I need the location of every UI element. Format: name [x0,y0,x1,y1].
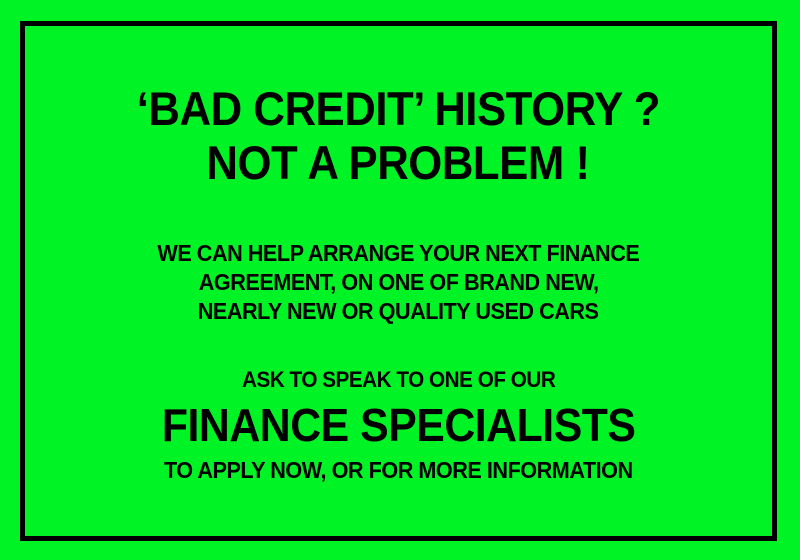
cta-lead-in: ASK TO SPEAK TO ONE OF OUR [242,366,555,393]
body-line-1: WE CAN HELP ARRANGE YOUR NEXT FINANCE [158,239,640,268]
headline-line-1: ‘BAD CREDIT’ HISTORY ? [137,82,660,136]
body-line-2: AGREEMENT, ON ONE OF BRAND NEW, [199,268,599,297]
poster: ‘BAD CREDIT’ HISTORY ? NOT A PROBLEM ! W… [0,0,800,560]
body-block: WE CAN HELP ARRANGE YOUR NEXT FINANCE AG… [142,239,655,326]
cta-footer: TO APPLY NOW, OR FOR MORE INFORMATION [164,456,633,484]
cta-block: ASK TO SPEAK TO ONE OF OUR FINANCE SPECI… [144,366,653,484]
poster-content: ‘BAD CREDIT’ HISTORY ? NOT A PROBLEM ! W… [25,26,772,536]
cta-highlight: FINANCE SPECIALISTS [162,397,636,453]
headline-line-2: NOT A PROBLEM ! [207,136,590,190]
body-line-3: NEARLY NEW OR QUALITY USED CARS [198,297,599,326]
headline-block: ‘BAD CREDIT’ HISTORY ? NOT A PROBLEM ! [117,82,680,190]
